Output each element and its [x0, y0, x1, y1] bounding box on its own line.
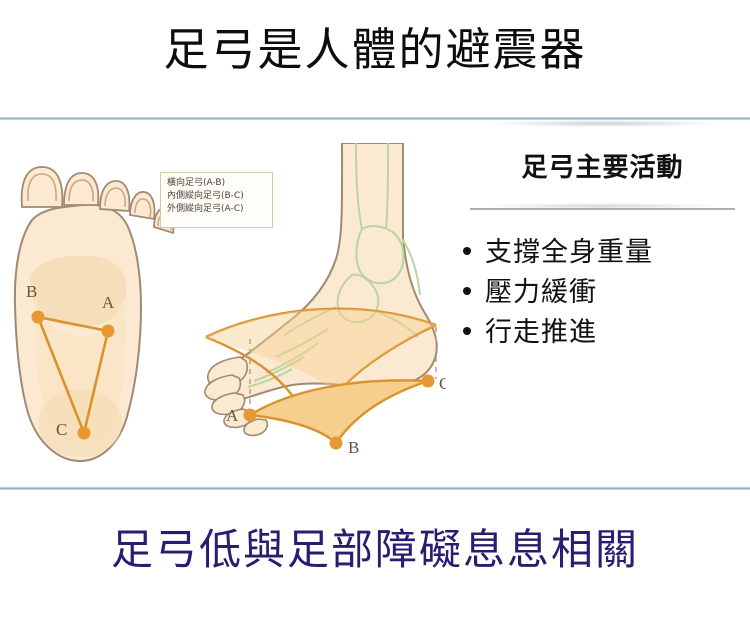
list-item: 行走推進 [463, 312, 750, 352]
list-item-label: 支撐全身重量 [485, 232, 653, 272]
point-c-dot [78, 427, 91, 440]
bullet-icon [463, 287, 471, 295]
bottom-divider [0, 487, 750, 490]
sole-label-b: B [26, 282, 37, 301]
point-a-dot [102, 325, 115, 338]
side-label-b: B [348, 438, 359, 457]
side-point-c-dot [422, 375, 435, 388]
list-item: 支撐全身重量 [463, 232, 750, 272]
page-title: 足弓是人體的避震器 [0, 20, 750, 80]
list-item: 壓力緩衝 [463, 272, 750, 312]
sole-label-c: C [56, 420, 67, 439]
arch-functions-list: 支撐全身重量 壓力緩衝 行走推進 [455, 232, 750, 352]
bottom-headline: 足弓低與足部障礙息息相關 [0, 522, 750, 578]
top-divider [0, 117, 750, 120]
list-item-label: 壓力緩衝 [485, 272, 597, 312]
sole-foot-diagram: B A C [2, 145, 177, 475]
bullet-icon [463, 247, 471, 255]
list-item-label: 行走推進 [485, 312, 597, 352]
sole-label-a: A [102, 293, 115, 312]
side-label-c: C [439, 374, 446, 393]
top-divider-shadow [490, 120, 720, 127]
arch-dome-shape [250, 380, 428, 443]
arch-functions-panel: 足弓主要活動 支撐全身重量 壓力緩衝 行走推進 [455, 150, 750, 395]
side-point-b-dot [330, 437, 343, 450]
point-b-dot [32, 311, 45, 324]
panel-heading: 足弓主要活動 [455, 150, 750, 184]
panel-rule [470, 208, 735, 210]
side-point-a-dot [244, 409, 257, 422]
bullet-icon [463, 327, 471, 335]
side-foot-diagram: A B C [196, 143, 446, 463]
panel-rule-wrapper [455, 204, 750, 214]
side-label-a: A [226, 406, 239, 425]
